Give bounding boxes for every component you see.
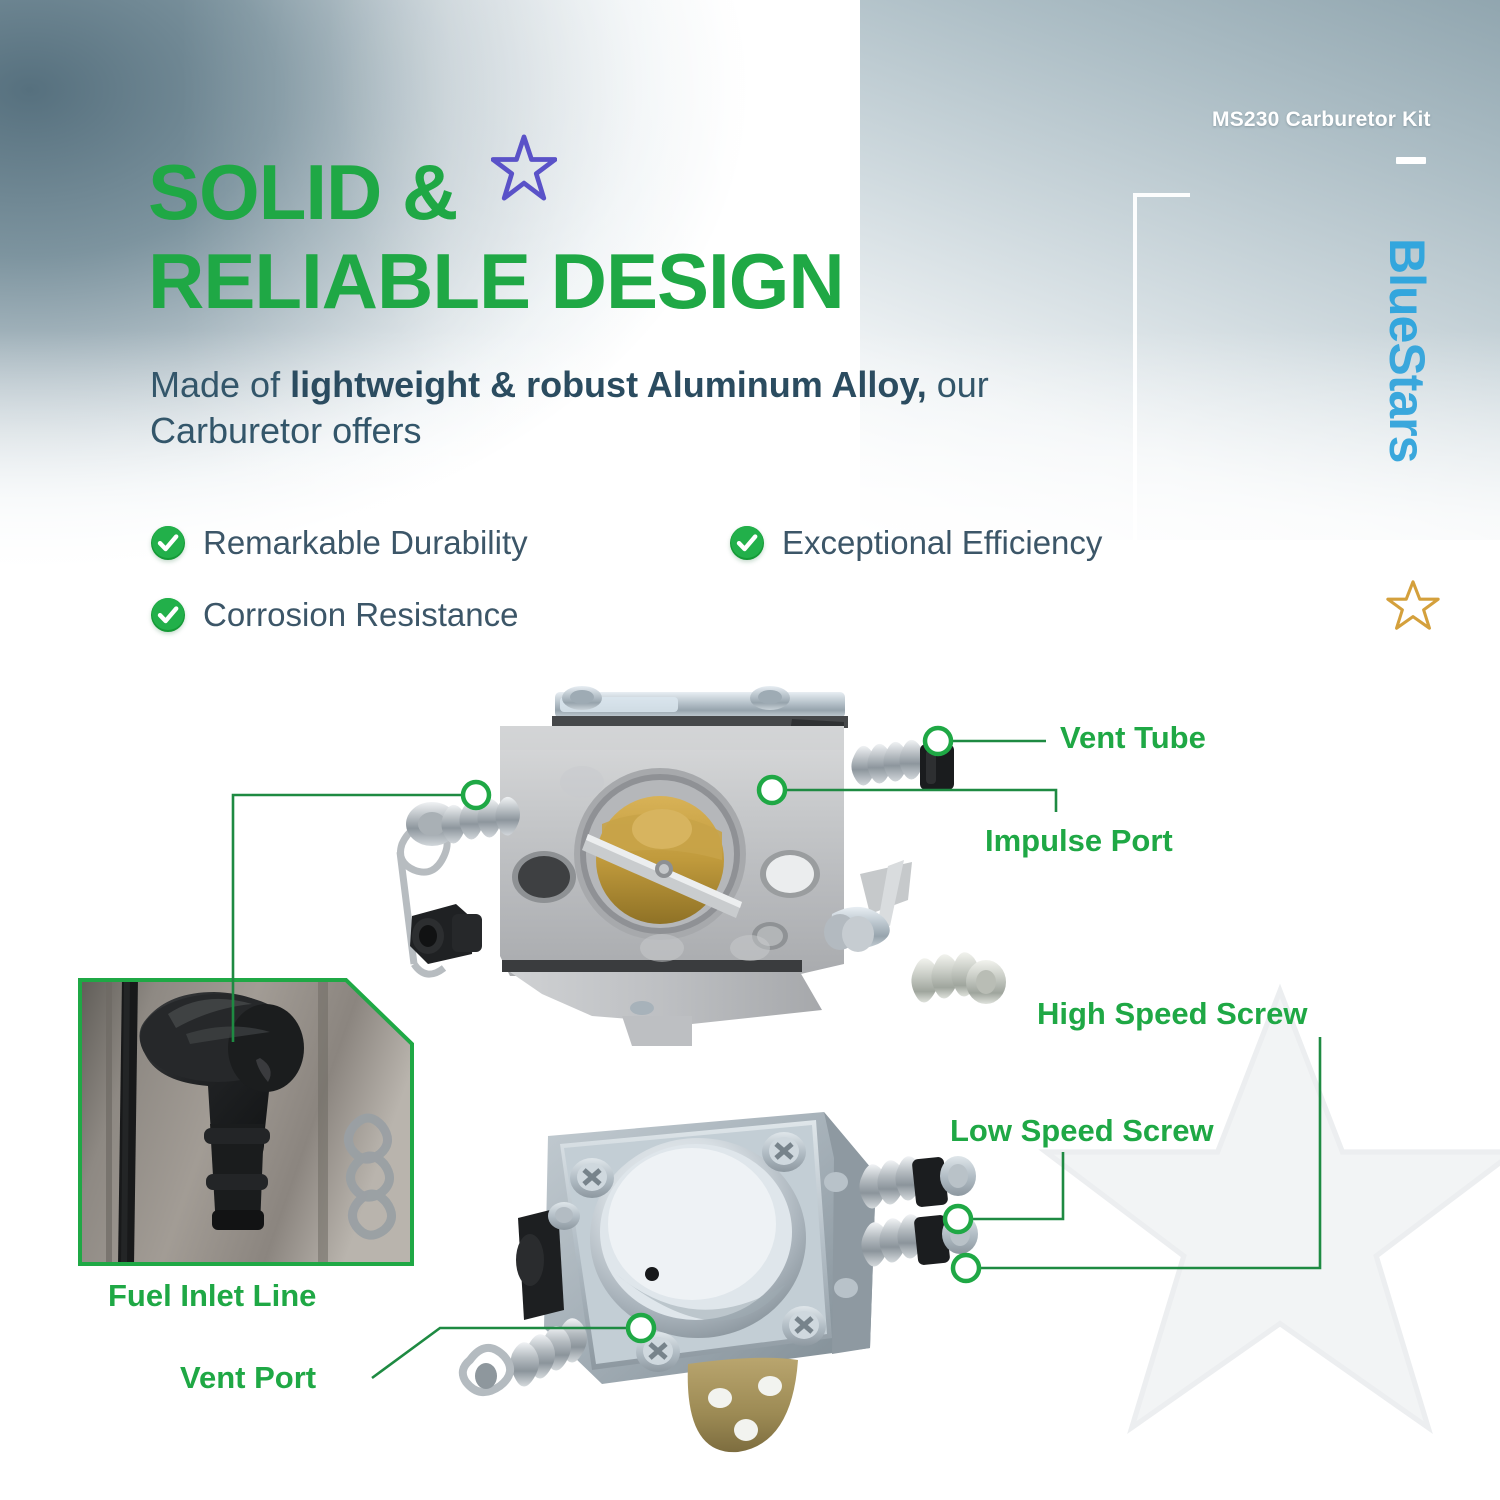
callout-label-low-speed-screw: Low Speed Screw xyxy=(950,1113,1214,1149)
callout-label-impulse-port: Impulse Port xyxy=(985,823,1173,859)
feature-label: Corrosion Resistance xyxy=(203,596,518,634)
brand-logo: BlueStars xyxy=(1378,238,1440,638)
callout-label-high-speed-screw: High Speed Screw xyxy=(1037,996,1307,1032)
headline-star-icon xyxy=(491,132,557,204)
header-product-title: MS230 Carburetor Kit xyxy=(1212,108,1431,132)
brand-name-stars: Stars xyxy=(1379,342,1435,462)
brand-star-icon xyxy=(1384,576,1442,634)
infographic-canvas: MS230 Carburetor Kit BlueStars SOLID & R… xyxy=(0,0,1500,1500)
feature-item-corrosion-resistance: Corrosion Resistance xyxy=(150,596,518,634)
subheading-bold: lightweight & robust Aluminum Alloy, xyxy=(290,364,927,405)
callout-label-fuel-inlet-line: Fuel Inlet Line xyxy=(108,1278,316,1314)
page-title: SOLID & RELIABLE DESIGN xyxy=(148,155,1068,319)
header-divider-dash xyxy=(1396,157,1426,164)
check-circle-icon xyxy=(729,525,765,561)
check-circle-icon xyxy=(150,525,186,561)
subheading-prefix: Made of xyxy=(150,364,290,405)
callout-label-vent-port: Vent Port xyxy=(180,1360,316,1396)
headline-line-2: RELIABLE DESIGN xyxy=(148,244,1068,319)
subheading: Made of lightweight & robust Aluminum Al… xyxy=(150,362,1020,454)
feature-item-remarkable-durability: Remarkable Durability xyxy=(150,524,528,562)
callout-label-vent-tube: Vent Tube xyxy=(1060,720,1206,756)
feature-item-exceptional-efficiency: Exceptional Efficiency xyxy=(729,524,1102,562)
brand-name-blue: Blue xyxy=(1379,238,1435,342)
feature-label: Exceptional Efficiency xyxy=(782,524,1102,562)
headline-line-1: SOLID & xyxy=(148,148,457,236)
carburetor-main-photo xyxy=(392,664,1012,1064)
carburetor-secondary-photo xyxy=(452,1098,1012,1498)
fuel-inlet-closeup-photo xyxy=(78,978,414,1266)
check-circle-icon xyxy=(150,597,186,633)
feature-label: Remarkable Durability xyxy=(203,524,528,562)
